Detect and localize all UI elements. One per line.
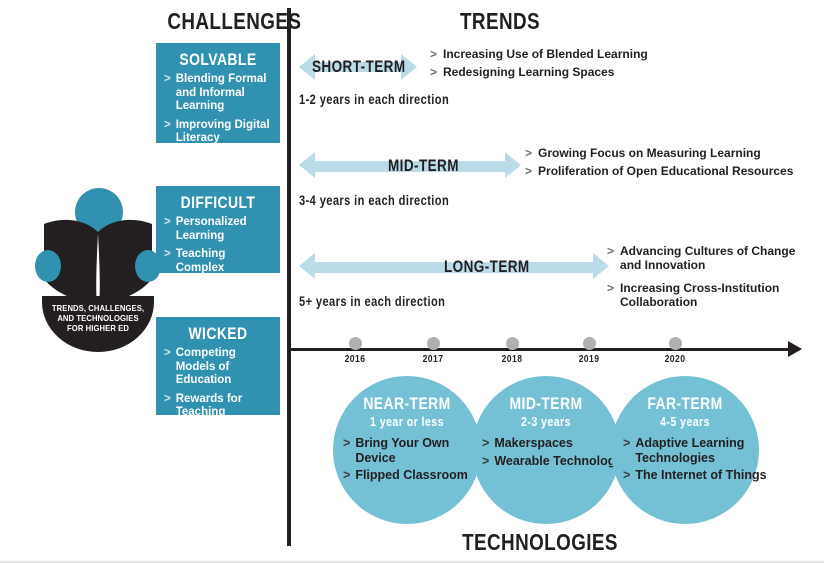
challenge-item-label: Blending Formal and Informal Learning: [176, 73, 272, 114]
mid-term-duration: 3-4 years in each direction: [299, 193, 449, 208]
technology-item: > Adaptive Learning Technologies: [623, 436, 769, 465]
technology-circle-far-term: FAR-TERM 4-5 years > Adaptive Learning T…: [611, 376, 759, 524]
technology-circle-heading: FAR-TERM 4-5 years: [611, 394, 759, 429]
trend-item-label: Increasing Use of Blended Learning: [443, 47, 648, 61]
reader-with-book-icon: TRENDS, CHALLENGES, AND TECHNOLOGIES FOR…: [28, 192, 168, 352]
technology-horizon: 4-5 years: [624, 414, 745, 429]
bullet-chevron-icon: >: [164, 248, 171, 289]
banner-line-2: AND TECHNOLOGIES: [48, 313, 149, 323]
mid-term-label: MID-TERM: [388, 157, 459, 175]
technology-circle-mid-term: MID-TERM 2-3 years > Makerspaces > Weara…: [472, 376, 620, 524]
bullet-chevron-icon: >: [343, 436, 350, 465]
timeline-dot: [583, 337, 596, 350]
timeline-year-label: 2019: [571, 353, 607, 365]
timeline-axis: [289, 348, 792, 351]
bullet-chevron-icon: >: [164, 73, 171, 114]
trend-item: > Increasing Use of Blended Learning: [430, 47, 790, 61]
timeline-dot: [427, 337, 440, 350]
vertical-divider: [287, 8, 291, 546]
long-term-label: LONG-TERM: [444, 258, 530, 276]
technology-item-label: Flipped Classroom: [355, 468, 468, 483]
challenge-title: SOLVABLE: [174, 50, 263, 69]
timeline-year-label: 2016: [337, 353, 373, 365]
challenge-item-label: Improving Digital Literacy: [176, 119, 272, 146]
trend-item: > Increasing Cross-Institution Collabora…: [607, 281, 812, 309]
timeline-year-label: 2020: [657, 353, 693, 365]
bullet-chevron-icon: >: [164, 216, 171, 243]
bullet-chevron-icon: >: [164, 393, 171, 420]
bullet-chevron-icon: >: [482, 454, 489, 469]
trend-item-label: Increasing Cross-Institution Collaborati…: [620, 281, 812, 309]
arrow-head-left-icon: [299, 152, 315, 178]
bullet-chevron-icon: >: [623, 468, 630, 483]
challenge-item: > Improving Digital Literacy: [164, 119, 272, 146]
challenge-item-label: Competing Models of Education: [176, 347, 272, 388]
challenge-item-label: Personalized Learning: [176, 216, 272, 243]
timeline-arrow-head-icon: [788, 341, 802, 357]
technology-circle-near-term: NEAR-TERM 1 year or less > Bring Your Ow…: [333, 376, 481, 524]
trend-item: > Growing Focus on Measuring Learning: [525, 146, 815, 160]
technology-item-label: The Internet of Things: [635, 468, 766, 483]
challenge-item: > Teaching Complex Thinking: [164, 248, 272, 289]
banner-line-1: TRENDS, CHALLENGES,: [48, 303, 149, 313]
bullet-chevron-icon: >: [607, 244, 614, 272]
challenges-header-label: CHALLENGES: [167, 10, 270, 33]
challenge-card-difficult: DIFFICULT > Personalized Learning > Teac…: [156, 186, 280, 273]
technology-title: NEAR-TERM: [346, 394, 467, 413]
report-title-banner: TRENDS, CHALLENGES, AND TECHNOLOGIES FOR…: [42, 296, 154, 352]
trend-item-label: Redesigning Learning Spaces: [443, 65, 614, 79]
technology-item-label: Makerspaces: [494, 436, 573, 451]
technology-item: > The Internet of Things: [623, 468, 769, 483]
trend-item: > Proliferation of Open Educational Reso…: [525, 164, 815, 178]
technology-circle-heading: NEAR-TERM 1 year or less: [333, 394, 481, 429]
bullet-chevron-icon: >: [525, 146, 532, 160]
timeline-year-label: 2018: [494, 353, 530, 365]
bullet-chevron-icon: >: [164, 119, 171, 146]
challenge-item: > Blending Formal and Informal Learning: [164, 73, 272, 114]
challenge-title: WICKED: [174, 324, 263, 343]
trend-item: > Redesigning Learning Spaces: [430, 65, 790, 79]
technology-horizon: 2-3 years: [485, 414, 606, 429]
technologies-section-header: TECHNOLOGIES: [440, 531, 640, 554]
timeline-dot: [506, 337, 519, 350]
technology-item-list: > Adaptive Learning Technologies > The I…: [605, 436, 769, 486]
bullet-chevron-icon: >: [430, 65, 437, 79]
challenges-section-header: CHALLENGES: [156, 10, 282, 33]
short-term-trend-list: > Increasing Use of Blended Learning > R…: [430, 47, 790, 83]
short-term-label: SHORT-TERM: [312, 58, 406, 76]
timeline-dot: [349, 337, 362, 350]
challenge-item: > Rewards for Teaching: [164, 393, 272, 420]
bullet-chevron-icon: >: [525, 164, 532, 178]
challenge-item: > Personalized Learning: [164, 216, 272, 243]
bullet-chevron-icon: >: [623, 436, 630, 465]
infographic-canvas: TRENDS, CHALLENGES, AND TECHNOLOGIES FOR…: [0, 0, 824, 563]
trend-item-label: Growing Focus on Measuring Learning: [538, 146, 761, 160]
timeline-year-label: 2017: [415, 353, 451, 365]
bullet-chevron-icon: >: [164, 347, 171, 388]
arrow-head-left-icon: [299, 253, 315, 279]
challenge-item-label: Teaching Complex Thinking: [176, 248, 272, 289]
reader-hand-left-icon: [35, 250, 61, 282]
bullet-chevron-icon: >: [607, 281, 614, 309]
technology-horizon: 1 year or less: [346, 414, 467, 429]
trend-item-label: Advancing Cultures of Change and Innovat…: [620, 244, 812, 272]
technology-item-label: Adaptive Learning Technologies: [635, 436, 769, 465]
mid-term-trend-list: > Growing Focus on Measuring Learning > …: [525, 146, 815, 182]
technology-item-label: Wearable Technology: [494, 454, 622, 469]
challenge-title: DIFFICULT: [174, 193, 263, 212]
trends-header-label: TRENDS: [418, 10, 582, 33]
long-term-trend-list: > Advancing Cultures of Change and Innov…: [607, 244, 812, 313]
technology-title: MID-TERM: [485, 394, 606, 413]
trend-item-label: Proliferation of Open Educational Resour…: [538, 164, 793, 178]
trend-item: > Advancing Cultures of Change and Innov…: [607, 244, 812, 272]
timeline-dot: [669, 337, 682, 350]
technology-title: FAR-TERM: [624, 394, 745, 413]
challenge-item-label: Rewards for Teaching: [176, 393, 272, 420]
challenge-item: > Competing Models of Education: [164, 347, 272, 388]
challenge-card-solvable: SOLVABLE > Blending Formal and Informal …: [156, 43, 280, 143]
bullet-chevron-icon: >: [482, 436, 489, 451]
banner-line-3: FOR HIGHER ED: [48, 323, 149, 333]
long-term-duration: 5+ years in each direction: [299, 294, 445, 309]
bullet-chevron-icon: >: [343, 468, 350, 483]
arrow-head-right-icon: [505, 152, 521, 178]
technologies-header-label: TECHNOLOGIES: [458, 531, 622, 554]
challenge-card-wicked: WICKED > Competing Models of Education >…: [156, 317, 280, 415]
trends-section-header: TRENDS: [400, 10, 600, 33]
bullet-chevron-icon: >: [430, 47, 437, 61]
technology-circle-heading: MID-TERM 2-3 years: [472, 394, 620, 429]
short-term-duration: 1-2 years in each direction: [299, 92, 449, 107]
